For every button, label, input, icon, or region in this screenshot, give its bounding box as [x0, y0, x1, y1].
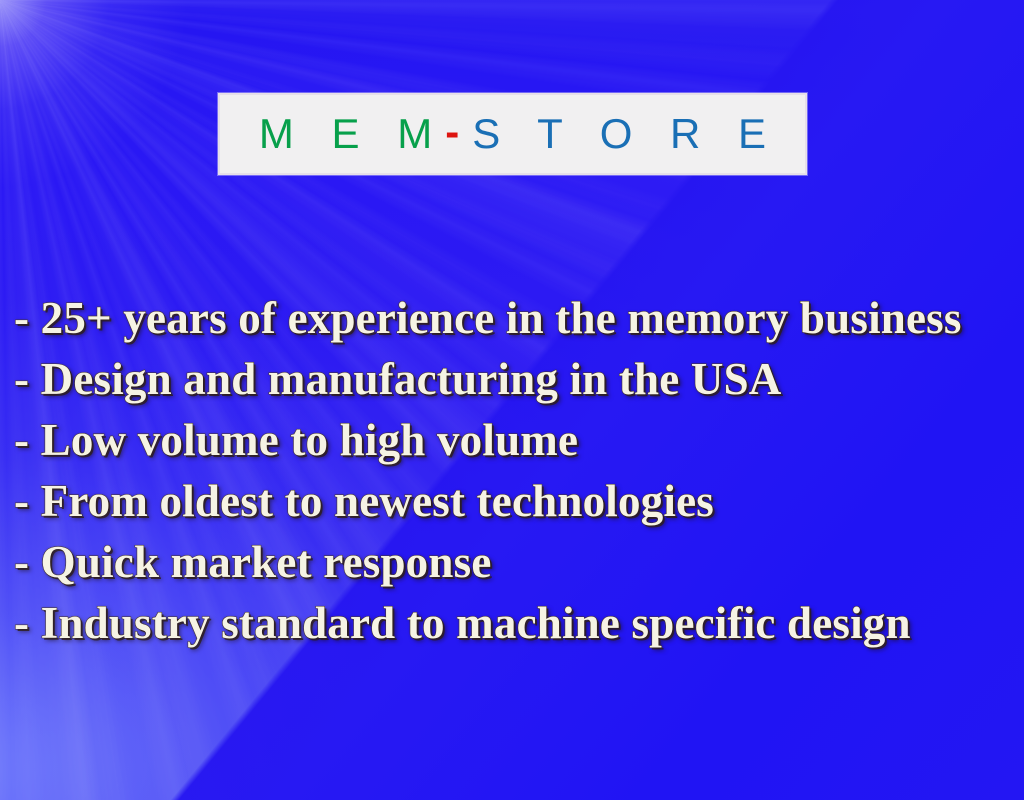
bullet-list: - 25+ years of experience in the memory … [14, 288, 1019, 654]
bullet-item: - Industry standard to machine specific … [14, 593, 1019, 654]
logo-text-store: S T O R E [472, 110, 779, 157]
bullet-item: - Quick market response [14, 532, 1019, 593]
logo-plate: M E M-S T O R E [218, 93, 807, 175]
bullet-item: - Design and manufacturing in the USA [14, 349, 1019, 410]
logo-text-mem: M E M [259, 110, 445, 157]
bullet-item: - From oldest to newest technologies [14, 471, 1019, 532]
company-logo: M E M-S T O R E [246, 113, 779, 155]
logo-text-dash: - [445, 108, 472, 155]
bullet-item: - Low volume to high volume [14, 410, 1019, 471]
presentation-slide: M E M-S T O R E - 25+ years of experienc… [0, 0, 1024, 800]
bullet-item: - 25+ years of experience in the memory … [14, 288, 1019, 349]
